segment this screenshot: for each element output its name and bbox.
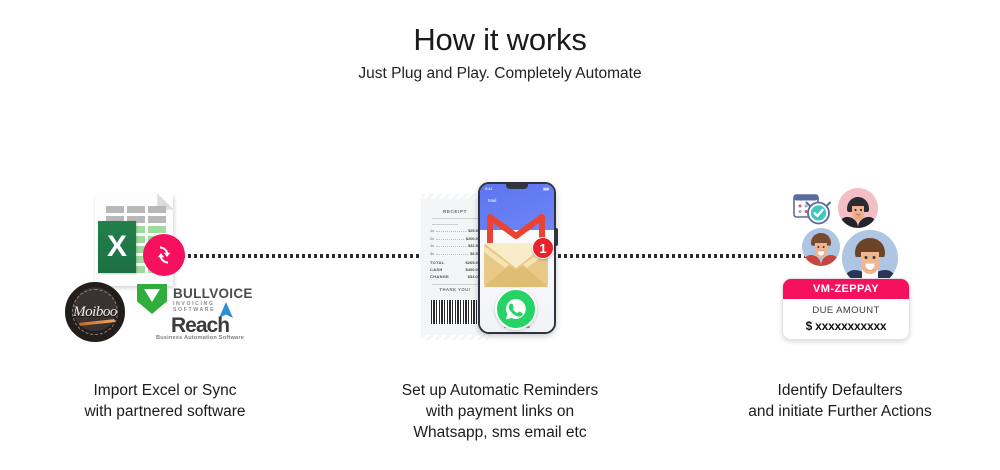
- alarm-clock-check-icon: [807, 203, 831, 224]
- partner-logo-bullvoice-label: BULLVOICE: [173, 286, 253, 301]
- step-identify-defaulters: VM-ZEPPAY DUE AMOUNT $ xxxxxxxxxxx Ident…: [690, 180, 990, 450]
- woman-avatar: [838, 188, 878, 228]
- step-3-caption-line-1: Identify Defaulters: [690, 380, 990, 401]
- whatsapp-icon: [495, 288, 537, 330]
- step-3-caption: Identify Defaulters and initiate Further…: [690, 380, 990, 422]
- receipt-item-leader: [436, 243, 466, 247]
- page-title: How it works: [0, 22, 1000, 58]
- receipt-item-label: 3x: [430, 251, 434, 256]
- how-it-works-infographic: How it works Just Plug and Play. Complet…: [0, 0, 1000, 470]
- phone-app-label: Mail: [488, 198, 496, 203]
- partner-logo-bullvoice-tagline: INVOICING SOFTWARE: [173, 301, 257, 313]
- sync-icon: [143, 234, 185, 276]
- receipt-item-label: 2x: [430, 236, 434, 241]
- receipt-line-items: 1x $25.50 2x $200.00 1x $32.99: [430, 228, 480, 258]
- receipt-divider: [432, 218, 478, 219]
- receipt-item-row: 1x $25.50: [430, 228, 480, 233]
- partner-logo-bullvoice: BULLVOICE INVOICING SOFTWARE: [137, 284, 257, 314]
- partner-logo-reach-tagline: Business Automation Software: [145, 335, 255, 341]
- step-2-caption-line-1: Set up Automatic Reminders: [350, 380, 650, 401]
- step-1-caption-line-2: with partnered software: [15, 401, 315, 422]
- partner-logo-reach: Reach Business Automation Software: [145, 314, 255, 344]
- step-1-caption-line-1: Import Excel or Sync: [15, 380, 315, 401]
- step-import-excel: X Moiboo BULLVOICE INVOICING SOFTWARE: [15, 180, 315, 450]
- phone-status-bar: 9:41 ▮▮▮: [480, 185, 554, 193]
- receipt-total-row: CHANGE $34.01: [430, 274, 480, 279]
- receipt-item-row: 2x $200.00: [430, 236, 480, 241]
- receipt-total-row: CASH $400.00: [430, 267, 480, 272]
- receipt-divider-2: [432, 284, 478, 285]
- due-amount-label: DUE AMOUNT: [783, 305, 909, 316]
- bullvoice-shield-icon: [137, 284, 167, 314]
- step-2-caption: Set up Automatic Reminders with payment …: [350, 380, 650, 443]
- step-1-caption: Import Excel or Sync with partnered soft…: [15, 380, 315, 422]
- step-3-artwork: VM-ZEPPAY DUE AMOUNT $ xxxxxxxxxxx: [690, 180, 990, 355]
- receipt-item-leader: [436, 251, 468, 255]
- receipt-total-row: TOTAL $265.99: [430, 260, 480, 265]
- receipt-total-label: CHANGE: [430, 274, 449, 279]
- step-automatic-reminders: RECEIPT 1x $25.50 2x $200.00 1x: [350, 180, 650, 450]
- due-amount-value: $ xxxxxxxxxxx: [783, 319, 909, 333]
- notification-badge: 1: [532, 237, 554, 259]
- receipt-totals: TOTAL $265.99 CASH $400.00 CHANGE $34.01: [430, 260, 480, 282]
- receipt-item-leader: [436, 236, 464, 240]
- step-2-artwork: RECEIPT 1x $25.50 2x $200.00 1x: [350, 180, 650, 355]
- phone-status-indicators: ▮▮▮: [543, 187, 549, 191]
- man-red-avatar: [802, 228, 840, 266]
- step-2-caption-line-2: with payment links on: [350, 401, 650, 422]
- calendar-icon: [792, 192, 836, 226]
- step-3-caption-line-2: and initiate Further Actions: [690, 401, 990, 422]
- phone-side-button: [555, 228, 558, 246]
- receipt-item-row: 3x $6.50: [430, 251, 480, 256]
- receipt-item-leader: [436, 228, 466, 232]
- sms-sender-id: VM-ZEPPAY: [783, 279, 909, 299]
- receipt-divider-short: [432, 224, 458, 225]
- excel-x-letter: X: [98, 221, 136, 273]
- phone-status-time: 9:41: [485, 187, 492, 191]
- receipt-barcode: [431, 300, 479, 324]
- receipt-item-row: 1x $32.99: [430, 243, 480, 248]
- receipt-total-label: CASH: [430, 267, 443, 272]
- receipt-item-label: 1x: [430, 243, 434, 248]
- step-2-caption-line-3: Whatsapp, sms email etc: [350, 422, 650, 443]
- page-subtitle: Just Plug and Play. Completely Automate: [0, 65, 1000, 83]
- receipt-item-label: 1x: [430, 228, 434, 233]
- sms-due-amount-card: VM-ZEPPAY DUE AMOUNT $ xxxxxxxxxxx: [782, 278, 910, 340]
- partner-logo-moiboo: Moiboo: [65, 282, 125, 342]
- receipt-bottom-edge: [422, 335, 488, 340]
- partner-logo-moiboo-label: Moiboo: [73, 304, 117, 321]
- receipt-total-label: TOTAL: [430, 260, 444, 265]
- step-1-artwork: X Moiboo BULLVOICE INVOICING SOFTWARE: [15, 180, 315, 355]
